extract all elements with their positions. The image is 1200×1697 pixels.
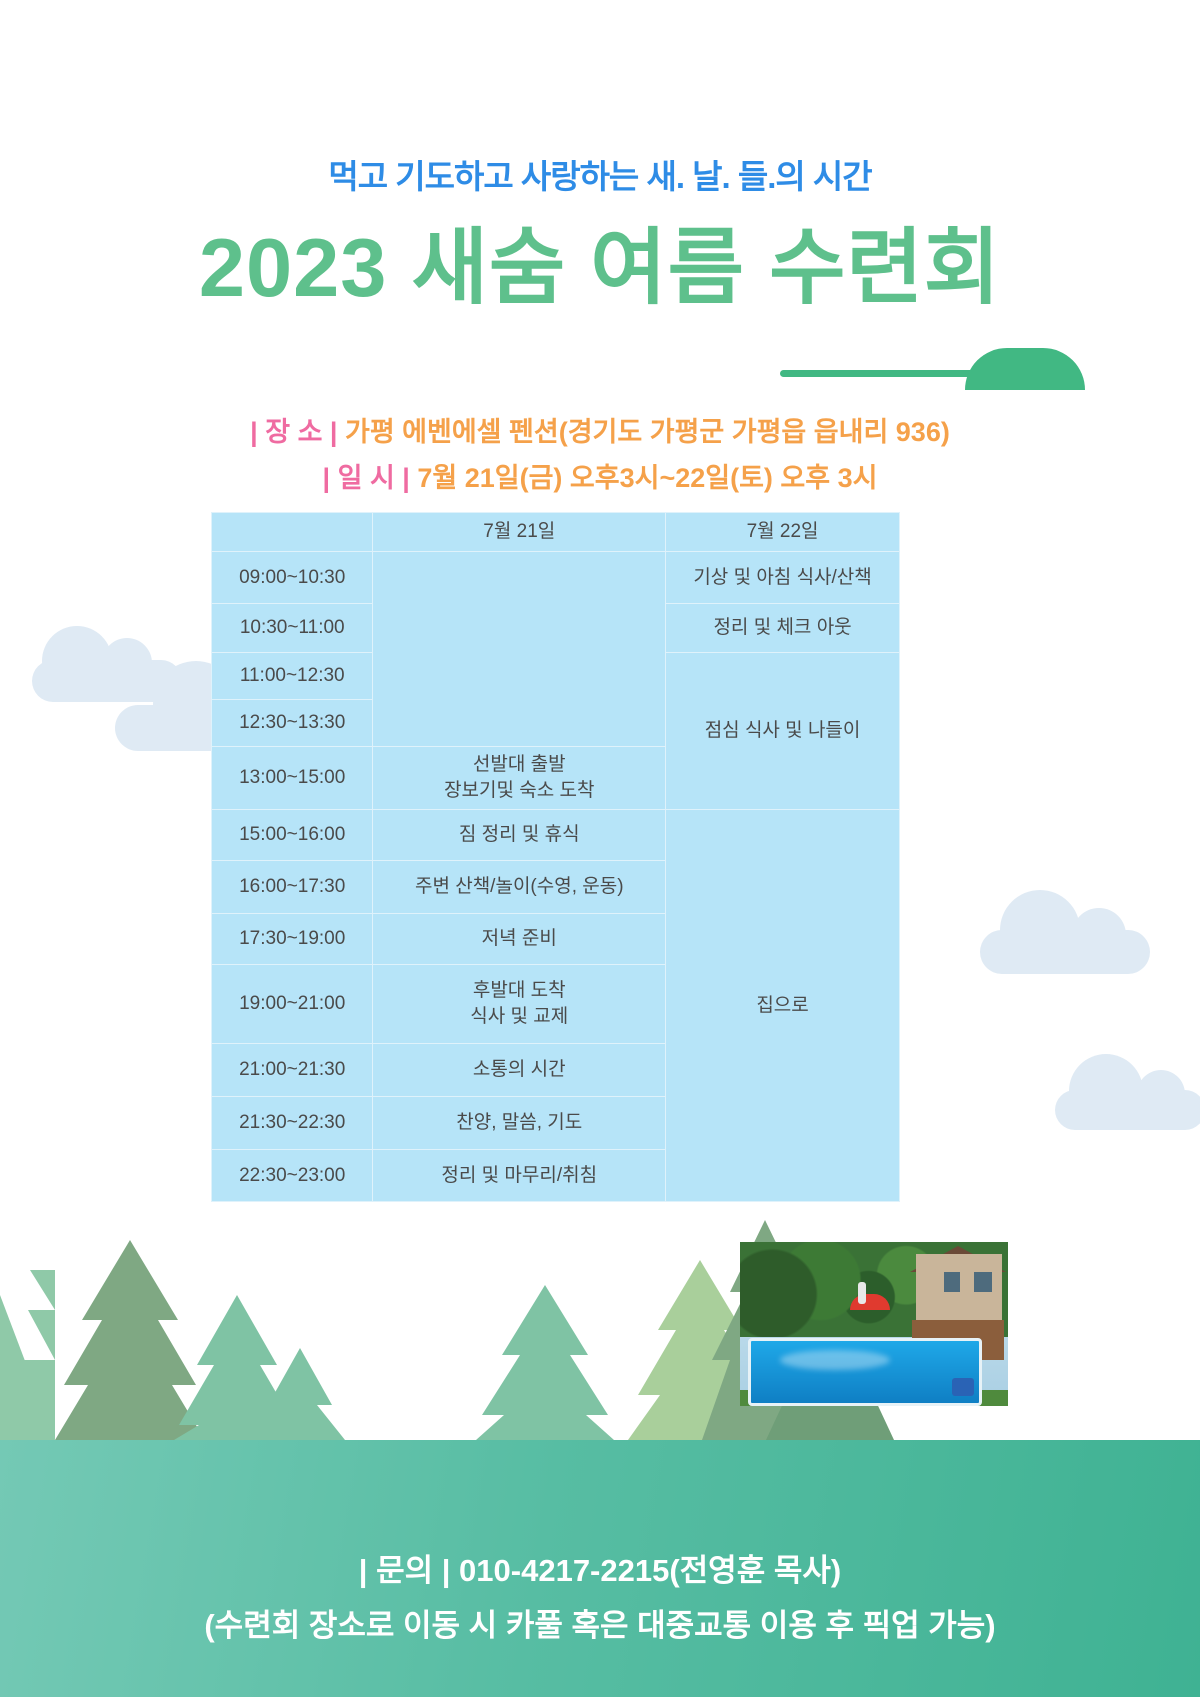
footer-contact: | 문의 | 010-4217-2215(전영훈 목사) (0, 1545, 1200, 1590)
footer-band: | 문의 | 010-4217-2215(전영훈 목사) (수련회 장소로 이동… (0, 1440, 1200, 1697)
cloud-icon (980, 930, 1150, 974)
schedule-table: 7월 21일 7월 22일 09:00~10:30 기상 및 아침 식사/산책 … (211, 512, 900, 1202)
cell-time: 22:30~23:00 (212, 1150, 373, 1202)
tree-icon (476, 1285, 614, 1440)
cell-day1: 짐 정리 및 휴식 (373, 810, 666, 861)
table-header-time (212, 513, 373, 552)
info-place: | 장 소 | 가평 에벤에셀 펜션(경기도 가평군 가평읍 읍내리 936) (0, 410, 1200, 449)
cell-time: 15:00~16:00 (212, 810, 373, 861)
info-place-label: | 장 소 | (250, 417, 337, 447)
table-header-day1: 7월 21일 (373, 513, 666, 552)
photo-window (944, 1272, 960, 1292)
footer-note: (수련회 장소로 이동 시 카풀 혹은 대중교통 이용 후 픽업 가능) (0, 1600, 1200, 1645)
cell-day2-home: 집으로 (666, 810, 900, 1202)
hill-decoration (0, 348, 1200, 390)
venue-photo (740, 1242, 1008, 1406)
cell-time: 10:30~11:00 (212, 604, 373, 653)
photo-person (858, 1282, 866, 1304)
hill-icon (965, 348, 1085, 390)
info-date-label: | 일 시 | (323, 463, 410, 493)
cloud-icon (1055, 1090, 1200, 1130)
cell-time: 21:30~22:30 (212, 1097, 373, 1150)
cell-day1: 저녁 준비 (373, 914, 666, 965)
page-title: 2023 새숨 여름 수련회 (0, 226, 1200, 309)
tree-icon (55, 1240, 205, 1440)
cell-day2: 기상 및 아침 식사/산책 (666, 552, 900, 604)
poster-tagline: 먹고 기도하고 사랑하는 새. 날. 들.의 시간 (0, 150, 1200, 198)
info-place-value: 가평 에벤에셀 펜션(경기도 가평군 가평읍 읍내리 936) (345, 417, 950, 447)
horizon-line-icon (780, 370, 975, 377)
cell-day1: 정리 및 마무리/취침 (373, 1150, 666, 1202)
table-row: 09:00~10:30 기상 및 아침 식사/산책 (212, 552, 900, 604)
cell-time: 17:30~19:00 (212, 914, 373, 965)
table-header-day2: 7월 22일 (666, 513, 900, 552)
cell-time: 21:00~21:30 (212, 1044, 373, 1097)
table-row: 15:00~16:00 짐 정리 및 휴식 집으로 (212, 810, 900, 861)
cell-day2: 정리 및 체크 아웃 (666, 604, 900, 653)
table-header-row: 7월 21일 7월 22일 (212, 513, 900, 552)
info-date: | 일 시 | 7월 21일(금) 오후3시~22일(토) 오후 3시 (0, 456, 1200, 495)
photo-pool (748, 1338, 982, 1406)
footer-contact-label: | 문의 | (359, 1553, 451, 1588)
info-date-value: 7월 21일(금) 오후3시~22일(토) 오후 3시 (417, 463, 877, 493)
cell-day1: 주변 산책/놀이(수영, 운동) (373, 861, 666, 914)
cell-time: 09:00~10:30 (212, 552, 373, 604)
cell-day1: 소통의 시간 (373, 1044, 666, 1097)
poster-canvas: 먹고 기도하고 사랑하는 새. 날. 들.의 시간 2023 새숨 여름 수련회… (0, 0, 1200, 1697)
tree-row-decoration (0, 1200, 1200, 1440)
cell-time: 11:00~12:30 (212, 653, 373, 700)
photo-poolside-object (952, 1378, 974, 1396)
photo-window (974, 1272, 992, 1292)
footer-contact-value: 010-4217-2215(전영훈 목사) (459, 1553, 841, 1588)
cell-time: 13:00~15:00 (212, 747, 373, 810)
cell-day1 (373, 552, 666, 747)
cell-time: 12:30~13:30 (212, 700, 373, 747)
cell-time: 19:00~21:00 (212, 965, 373, 1044)
tree-icon (0, 1270, 55, 1440)
cell-day2-lunch: 점심 식사 및 나들이 (666, 653, 900, 810)
cell-time: 16:00~17:30 (212, 861, 373, 914)
cell-day1: 선발대 출발 장보기및 숙소 도착 (373, 747, 666, 810)
photo-pool-reflection (780, 1350, 890, 1370)
cell-day1: 후발대 도착 식사 및 교제 (373, 965, 666, 1044)
cell-day1: 찬양, 말씀, 기도 (373, 1097, 666, 1150)
